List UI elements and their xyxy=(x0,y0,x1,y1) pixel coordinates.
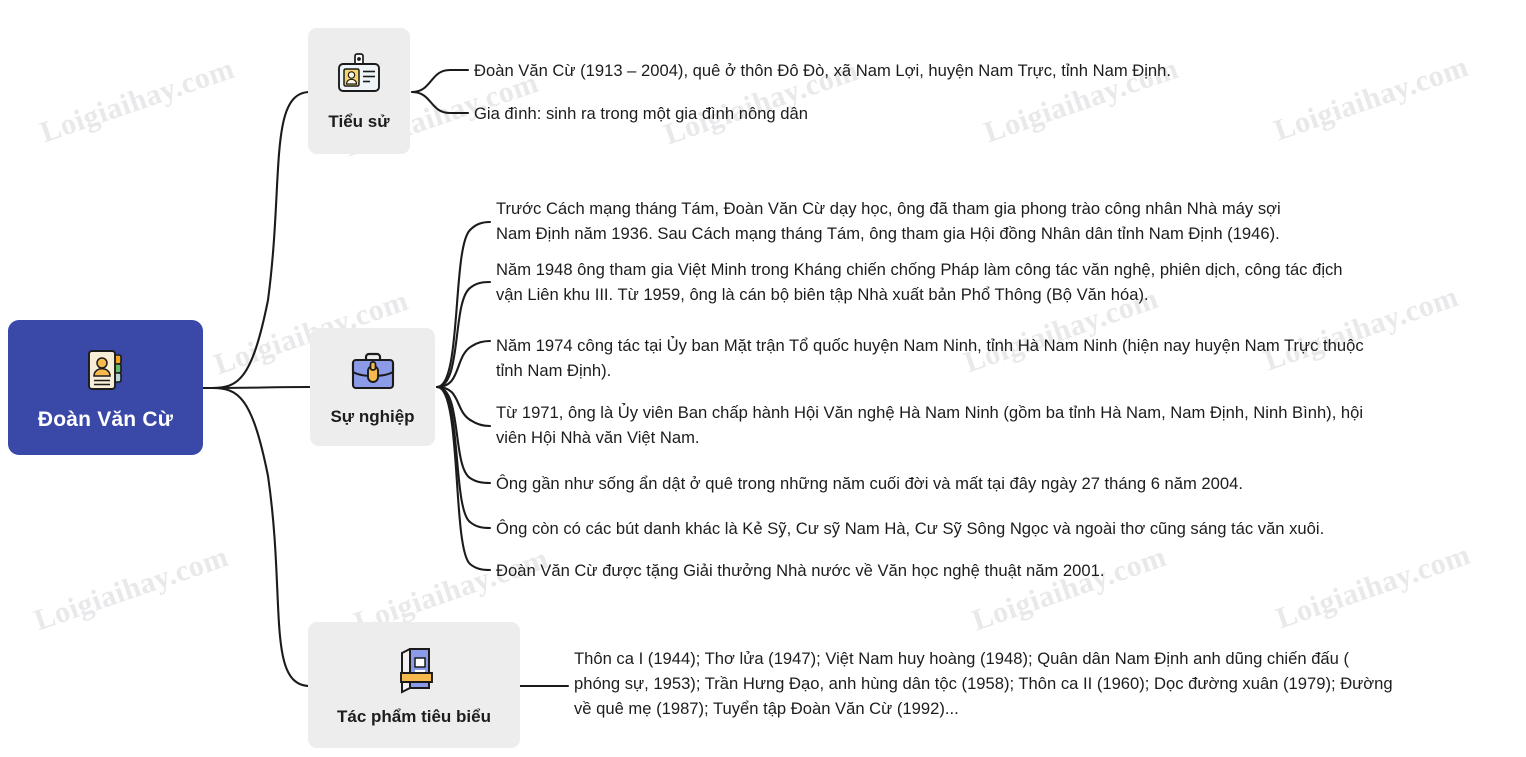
leaf-text: Năm 1974 công tác tại Ủy ban Mặt trận Tổ… xyxy=(496,333,1526,383)
leaf-text: Thôn ca I (1944); Thơ lửa (1947); Việt N… xyxy=(574,646,1524,721)
link-career-leaf-6 xyxy=(437,387,490,570)
link-bio-leaf-1 xyxy=(412,92,468,113)
link-career-leaf-5 xyxy=(437,387,490,528)
link-root-bio xyxy=(203,92,310,388)
link-root-works xyxy=(203,388,310,686)
branch-node-career[interactable]: Sự nghiệp xyxy=(310,328,435,446)
leaf-text: Từ 1971, ông là Ủy viên Ban chấp hành Hộ… xyxy=(496,400,1526,450)
root-node[interactable]: Đoàn Văn Cừ xyxy=(8,320,203,455)
link-career-leaf-3 xyxy=(437,387,490,426)
watermark: Loigiaihay.com xyxy=(968,540,1171,638)
book-icon xyxy=(388,644,440,701)
id-card-icon xyxy=(334,51,384,106)
leaf-text: Năm 1948 ông tham gia Việt Minh trong Kh… xyxy=(496,257,1526,307)
leaf-text: Ông gần như sống ẩn dật ở quê trong nhữn… xyxy=(496,471,1526,496)
link-career-leaf-0 xyxy=(437,222,490,387)
leaf-text: Trước Cách mạng tháng Tám, Đoàn Văn Cừ d… xyxy=(496,196,1526,246)
link-career-leaf-4 xyxy=(437,387,490,483)
leaf-text: Đoàn Văn Cừ được tặng Giải thưởng Nhà nư… xyxy=(496,558,1526,583)
watermark: Loigiaihay.com xyxy=(1272,538,1475,636)
leaf-text: Gia đình: sinh ra trong một gia đình nôn… xyxy=(474,101,1514,126)
leaf-text: Ông còn có các bút danh khác là Kẻ Sỹ, C… xyxy=(496,516,1526,541)
briefcase-icon xyxy=(347,348,399,401)
branch-node-works[interactable]: Tác phẩm tiêu biểu xyxy=(308,622,520,748)
mindmap-canvas: Loigiaihay.com Loigiaihay.com Loigiaihay… xyxy=(0,0,1526,757)
watermark: Loigiaihay.com xyxy=(30,540,233,638)
branch-node-bio[interactable]: Tiểu sử xyxy=(308,28,410,154)
link-bio-leaf-0 xyxy=(412,70,468,92)
branch-node-bio-label: Tiểu sử xyxy=(328,112,389,132)
watermark: Loigiaihay.com xyxy=(36,52,239,150)
link-career-leaf-2 xyxy=(437,341,490,387)
link-career-leaf-1 xyxy=(437,282,490,387)
link-root-career xyxy=(203,387,310,388)
leaf-text: Đoàn Văn Cừ (1913 – 2004), quê ở thôn Đô… xyxy=(474,58,1514,83)
branch-node-works-label: Tác phẩm tiêu biểu xyxy=(337,707,491,727)
root-node-label: Đoàn Văn Cừ xyxy=(38,408,173,432)
contact-book-icon xyxy=(80,344,132,401)
branch-node-career-label: Sự nghiệp xyxy=(330,407,414,427)
